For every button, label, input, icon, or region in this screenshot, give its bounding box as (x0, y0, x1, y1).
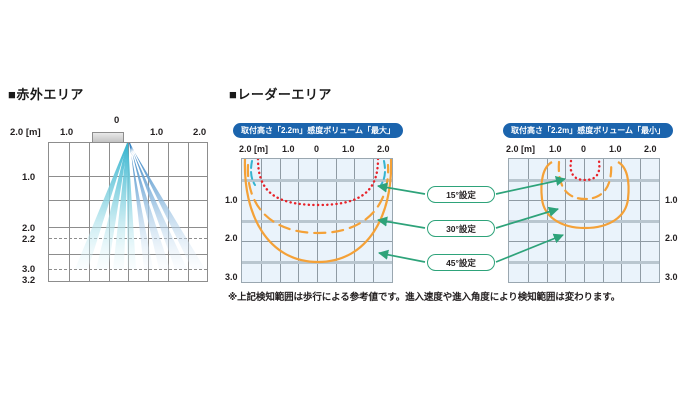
infrared-x-tick-0: 2.0 [m] (10, 128, 41, 138)
radar-min-y-tick-0: 1.0 (665, 196, 678, 205)
radar-min-plot-area (508, 158, 660, 283)
footnote: ※上記検知範囲は歩行による参考値です。進入速度や進入角度により検知範囲は変わりま… (228, 292, 698, 304)
infrared-y-tick-0: 1.0 (22, 173, 35, 183)
legend-pill-30deg[interactable]: 30°設定 (427, 220, 495, 237)
radar-max-y-tick-1: 2.0 (225, 234, 238, 243)
infrared-chart: 2.0 [m] 1.0 0 1.0 2.0 1.0 2.0 2.2 3.0 3.… (0, 110, 220, 290)
radar-min-x-tick-1: 1.0 (549, 145, 562, 154)
radar-min-x-tick-2: 0 (581, 145, 586, 154)
legend-pill-45deg[interactable]: 45°設定 (427, 254, 495, 271)
radar-max-x-tick-4: 2.0 (377, 145, 390, 154)
infrared-x-tick-1: 1.0 (60, 128, 73, 138)
infrared-y-tick-1: 2.0 (22, 224, 35, 234)
radar-min-x-tick-3: 1.0 (609, 145, 622, 154)
radar-min-curves (509, 159, 660, 283)
radar-max-y-tick-0: 1.0 (225, 196, 238, 205)
radar-min-x-tick-4: 2.0 (644, 145, 657, 154)
radar-max-plot-area (241, 158, 393, 283)
radar-min-y-tick-1: 2.0 (665, 234, 678, 243)
radar-charts-group: 取付高さ「2.2m」感度ボリューム「最大」 取付高さ「2.2m」感度ボリューム「… (225, 110, 700, 295)
infrared-plot-area (48, 142, 208, 282)
infrared-x-tick-2: 0 (114, 116, 119, 126)
radar-max-x-tick-0: 2.0 [m] (239, 145, 268, 154)
radar-min-y-tick-2: 3.0 (665, 273, 678, 282)
infrared-y-tick-4: 3.2 (22, 276, 35, 286)
radar-max-badge: 取付高さ「2.2m」感度ボリューム「最大」 (233, 123, 403, 138)
radar-max-x-tick-3: 1.0 (342, 145, 355, 154)
radar-min-badge: 取付高さ「2.2m」感度ボリューム「最小」 (503, 123, 673, 138)
radar-max-x-tick-1: 1.0 (282, 145, 295, 154)
radar-min-x-tick-0: 2.0 [m] (506, 145, 535, 154)
radar-section-heading: ■レーダーエリア (229, 84, 332, 103)
infrared-x-tick-4: 2.0 (193, 128, 206, 138)
radar-max-y-tick-2: 3.0 (225, 273, 238, 282)
radar-max-x-tick-2: 0 (314, 145, 319, 154)
page-root: ■赤外エリア 2.0 [m] 1.0 0 1.0 2.0 1.0 2.0 2.2… (0, 0, 700, 400)
infrared-y-tick-2: 2.2 (22, 235, 35, 245)
infrared-sensor-box (92, 132, 124, 143)
infrared-section-heading: ■赤外エリア (8, 84, 84, 103)
infrared-beam-pattern (49, 143, 208, 282)
legend-pill-15deg[interactable]: 15°設定 (427, 186, 495, 203)
infrared-y-tick-3: 3.0 (22, 265, 35, 275)
infrared-x-tick-3: 1.0 (150, 128, 163, 138)
radar-max-curves (242, 159, 393, 283)
